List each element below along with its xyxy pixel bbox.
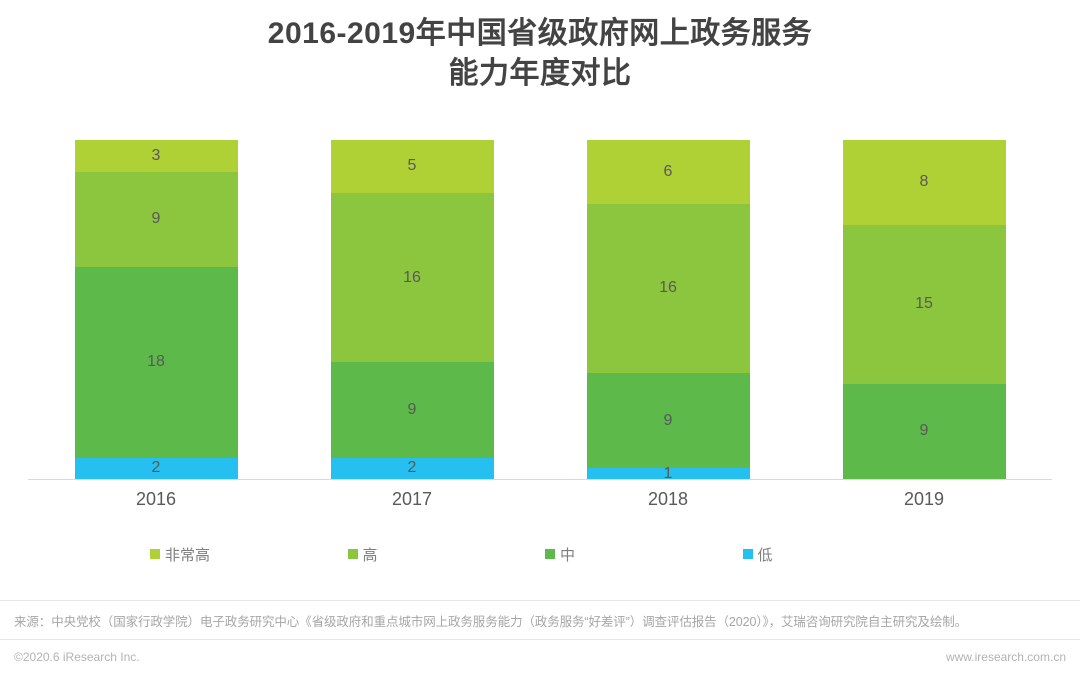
bar-segment-2018-非常高[interactable]: 6 [587, 140, 750, 204]
x-axis-line [28, 479, 1052, 480]
bar-value-label: 2 [408, 460, 417, 476]
copyright-text: ©2020.6 iResearch Inc. [14, 650, 140, 664]
x-axis-tick-2019: 2019 [843, 481, 1006, 517]
bar-segment-2019-非常高[interactable]: 8 [843, 140, 1006, 225]
source-note: 来源：中央党校（国家行政学院）电子政务研究中心《省级政府和重点城市网上政务服务能… [0, 611, 981, 630]
source-row: 来源：中央党校（国家行政学院）电子政务研究中心《省级政府和重点城市网上政务服务能… [0, 600, 1080, 640]
legend-item-中[interactable]: 中 [545, 544, 743, 565]
bar-segment-2017-中[interactable]: 9 [331, 362, 494, 457]
bar-column-2016[interactable]: 39182 [75, 140, 238, 479]
legend-label: 高 [363, 544, 378, 565]
stacked-bars-container: 3918251692616918159 [28, 140, 1052, 479]
x-axis-tick-2018: 2018 [587, 481, 750, 517]
bar-value-label: 16 [403, 270, 421, 286]
bar-segment-2019-高[interactable]: 15 [843, 225, 1006, 384]
legend-label: 非常高 [165, 544, 210, 565]
bar-value-label: 3 [152, 148, 161, 164]
legend-item-低[interactable]: 低 [743, 544, 941, 565]
chart-legend: 非常高高中低 [150, 540, 940, 568]
footer-row: ©2020.6 iResearch Inc. www.iresearch.com… [0, 641, 1080, 673]
bar-segment-2017-非常高[interactable]: 5 [331, 140, 494, 193]
legend-item-非常高[interactable]: 非常高 [150, 544, 348, 565]
bar-value-label: 9 [408, 402, 417, 418]
legend-item-高[interactable]: 高 [348, 544, 546, 565]
x-axis-labels: 2016201720182019 [28, 481, 1052, 517]
bar-segment-2016-低[interactable]: 2 [75, 458, 238, 479]
chart-title-line-1: 2016-2019年中国省级政府网上政务服务 [0, 14, 1080, 54]
chart-title: 2016-2019年中国省级政府网上政务服务 能力年度对比 [0, 0, 1080, 93]
chart-title-line-2: 能力年度对比 [0, 54, 1080, 94]
legend-swatch-icon [545, 549, 555, 559]
x-axis-tick-2017: 2017 [331, 481, 494, 517]
bar-value-label: 9 [920, 423, 929, 439]
bar-segment-2017-低[interactable]: 2 [331, 458, 494, 479]
legend-label: 低 [758, 544, 773, 565]
bar-value-label: 15 [915, 296, 933, 312]
legend-swatch-icon [743, 549, 753, 559]
bar-segment-2016-中[interactable]: 18 [75, 267, 238, 458]
bar-column-2019[interactable]: 8159 [843, 140, 1006, 479]
bar-value-label: 5 [408, 158, 417, 174]
bar-segment-2018-高[interactable]: 16 [587, 204, 750, 374]
bar-segment-2017-高[interactable]: 16 [331, 193, 494, 363]
bar-segment-2018-中[interactable]: 9 [587, 373, 750, 468]
bar-value-label: 16 [659, 280, 677, 296]
bar-segment-2018-低[interactable]: 1 [587, 468, 750, 479]
bar-segment-2016-非常高[interactable]: 3 [75, 140, 238, 172]
legend-label: 中 [560, 544, 575, 565]
bar-value-label: 9 [152, 211, 161, 227]
bar-column-2018[interactable]: 61691 [587, 140, 750, 479]
plot-area: 3918251692616918159 [0, 140, 1080, 480]
bar-value-label: 18 [147, 354, 165, 370]
bar-value-label: 6 [664, 164, 673, 180]
bar-value-label: 8 [920, 174, 929, 190]
bar-segment-2016-高[interactable]: 9 [75, 172, 238, 267]
website-link[interactable]: www.iresearch.com.cn [946, 650, 1066, 664]
legend-swatch-icon [150, 549, 160, 559]
bar-column-2017[interactable]: 51692 [331, 140, 494, 479]
x-axis-tick-2016: 2016 [75, 481, 238, 517]
bar-segment-2019-中[interactable]: 9 [843, 384, 1006, 479]
bar-value-label: 9 [664, 413, 673, 429]
bar-value-label: 2 [152, 460, 161, 476]
legend-swatch-icon [348, 549, 358, 559]
